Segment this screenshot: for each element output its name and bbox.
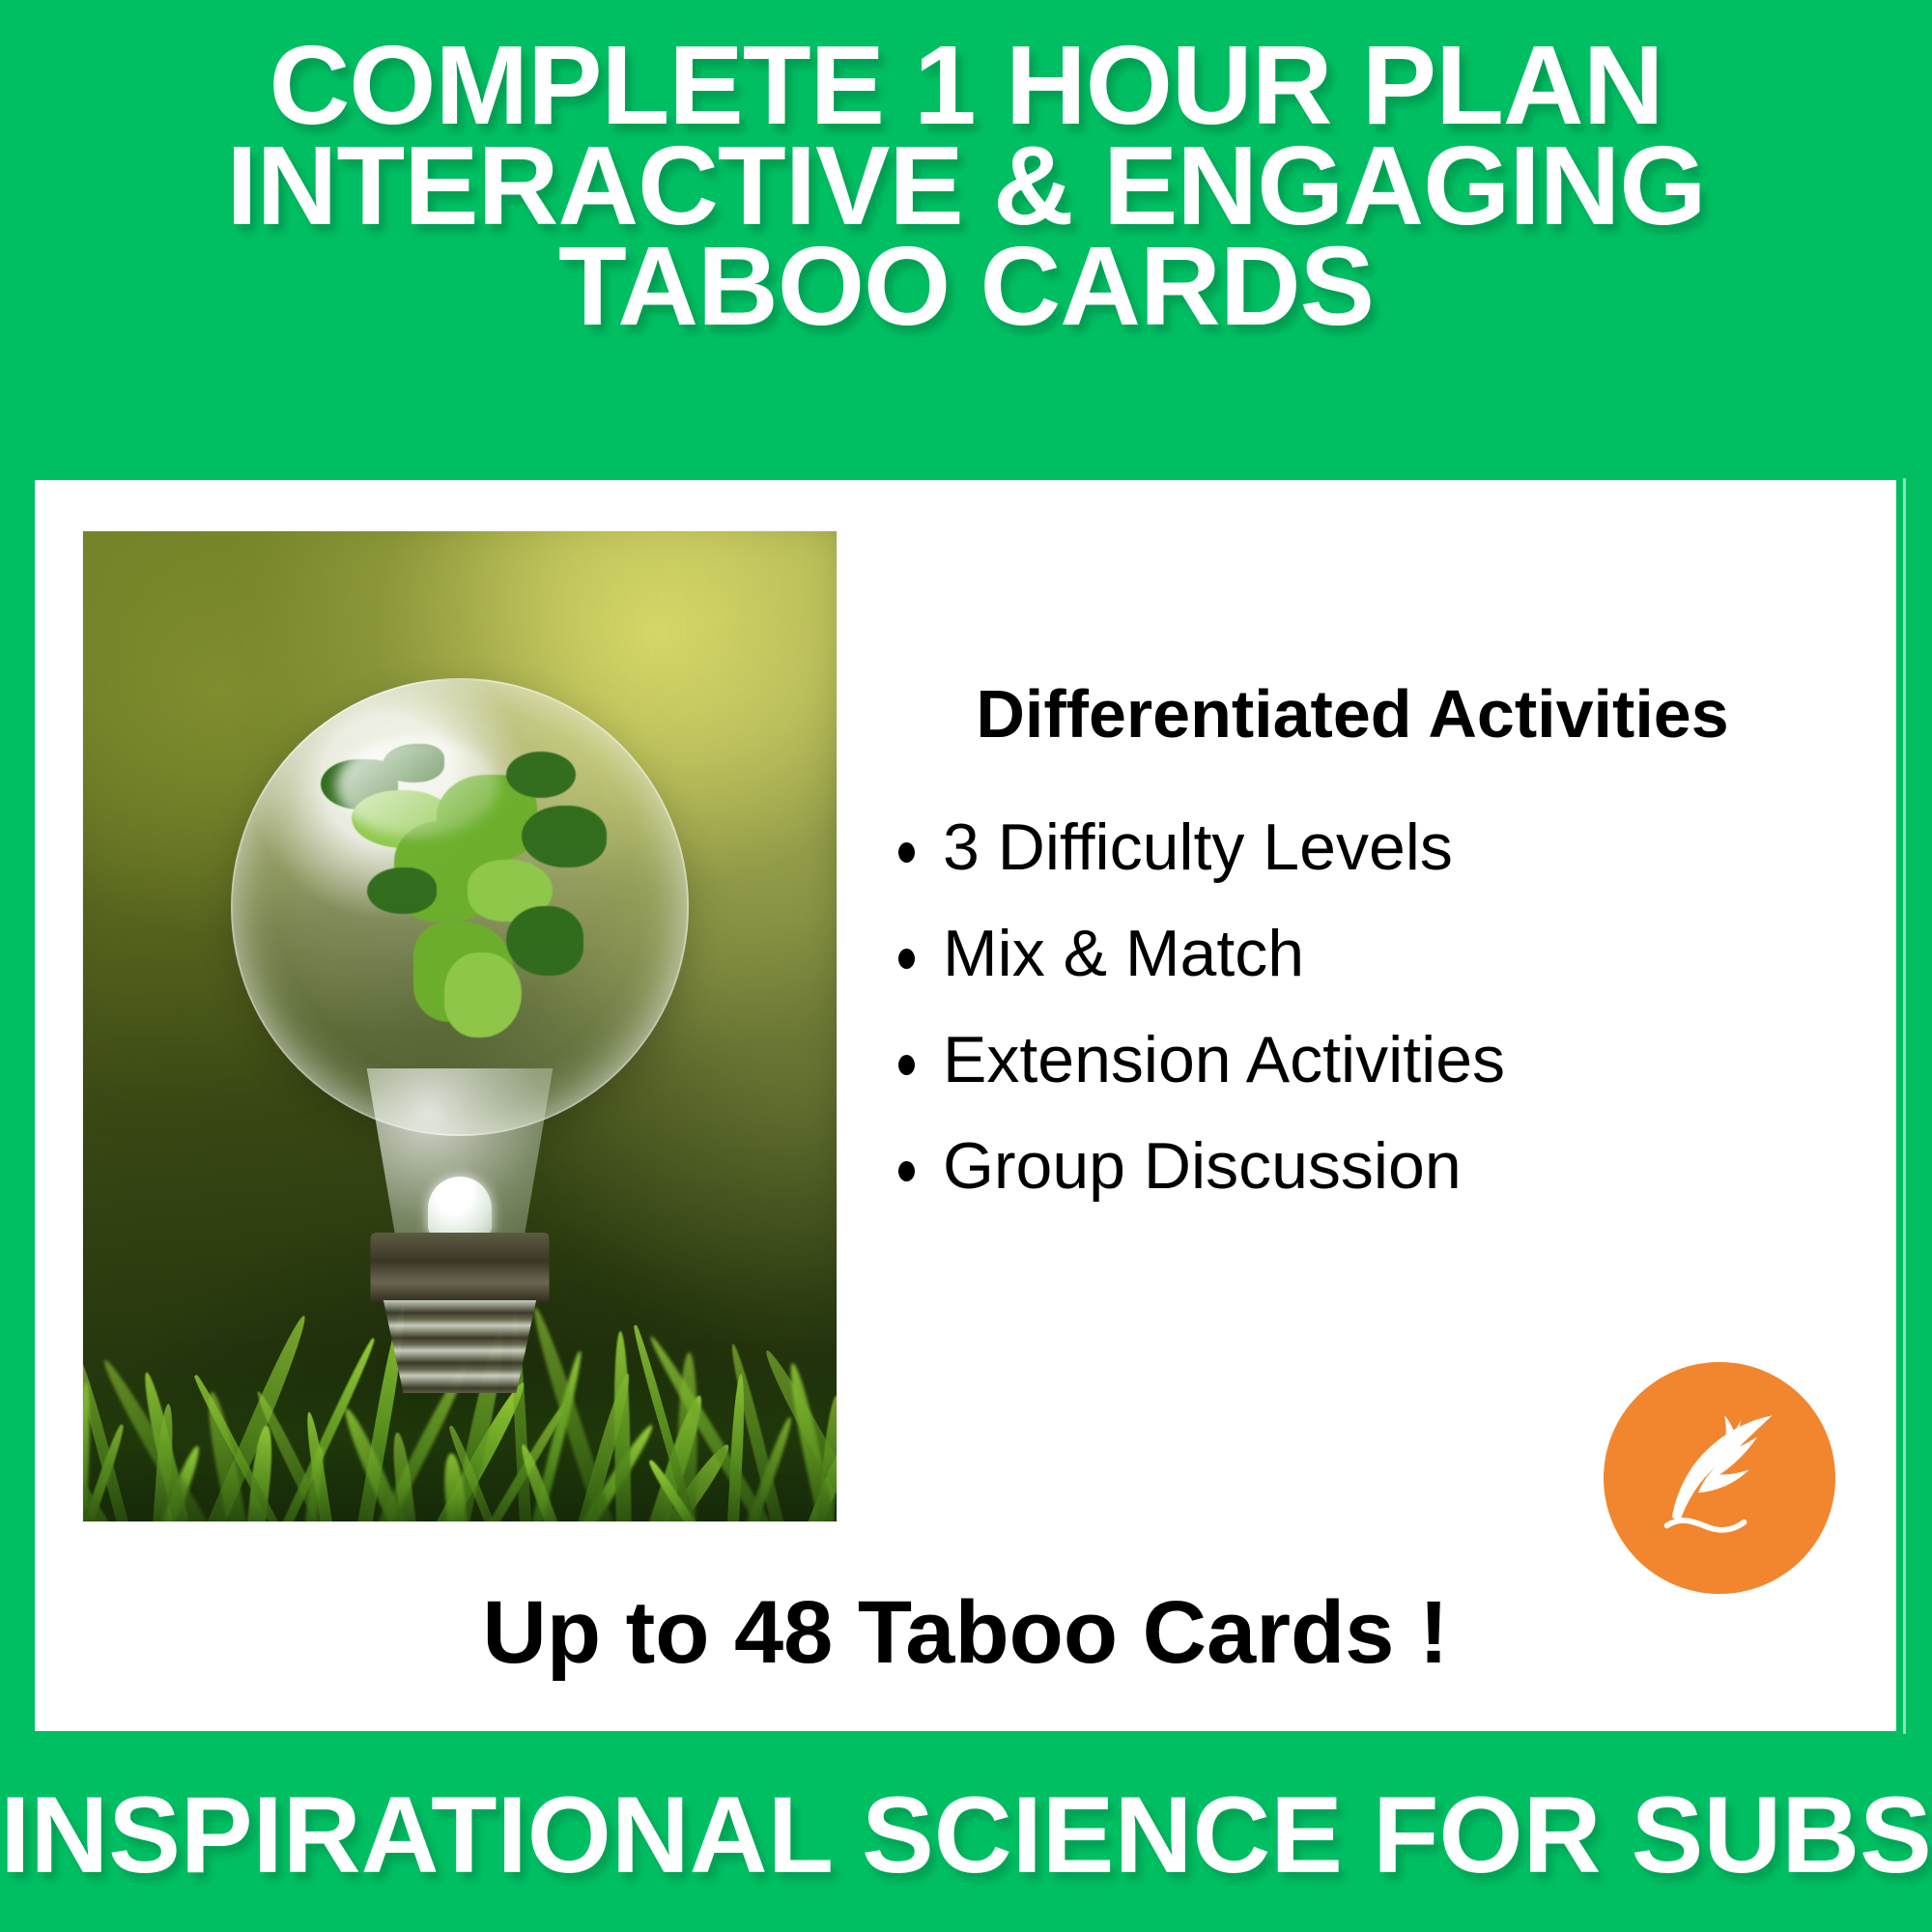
list-item: Extension Activities (895, 1007, 1835, 1113)
glass-highlight (336, 736, 498, 837)
lightbulb-globe-photo (83, 531, 837, 1521)
list-item: 3 Difficulty Levels (895, 794, 1835, 900)
features-heading: Differentiated Activities (869, 676, 1835, 752)
bulb-filament-tip (428, 1177, 492, 1236)
header-banner: COMPLETE 1 HOUR PLAN INTERACTIVE & ENGAG… (0, 0, 1932, 454)
title-line-3: TABOO CARDS (558, 236, 1374, 336)
list-item: Mix & Match (895, 900, 1835, 1007)
list-item: Group Discussion (895, 1113, 1835, 1219)
title-line-2: INTERACTIVE & ENGAGING (226, 135, 1705, 236)
bulb-screw-threads (377, 1300, 543, 1393)
features-list: 3 Difficulty Levels Mix & Match Extensio… (869, 794, 1835, 1219)
footer-banner: INSPIRATIONAL SCIENCE FOR SUBS (0, 1739, 1932, 1932)
earth-globe-inside-bulb (267, 705, 653, 1092)
features-panel: Differentiated Activities 3 Difficulty L… (869, 676, 1835, 1219)
feather-quill-icon (1637, 1396, 1802, 1560)
bulb-metal-cap (371, 1233, 550, 1304)
brand-logo (1604, 1362, 1835, 1594)
card-edge-accent-line (1903, 478, 1906, 1734)
lightbulb (209, 678, 711, 1412)
footer-brand-text: INSPIRATIONAL SCIENCE FOR SUBS (0, 1778, 1932, 1892)
cards-count-callout: Up to 48 Taboo Cards ! (35, 1584, 1896, 1681)
title-line-1: COMPLETE 1 HOUR PLAN (270, 35, 1663, 135)
